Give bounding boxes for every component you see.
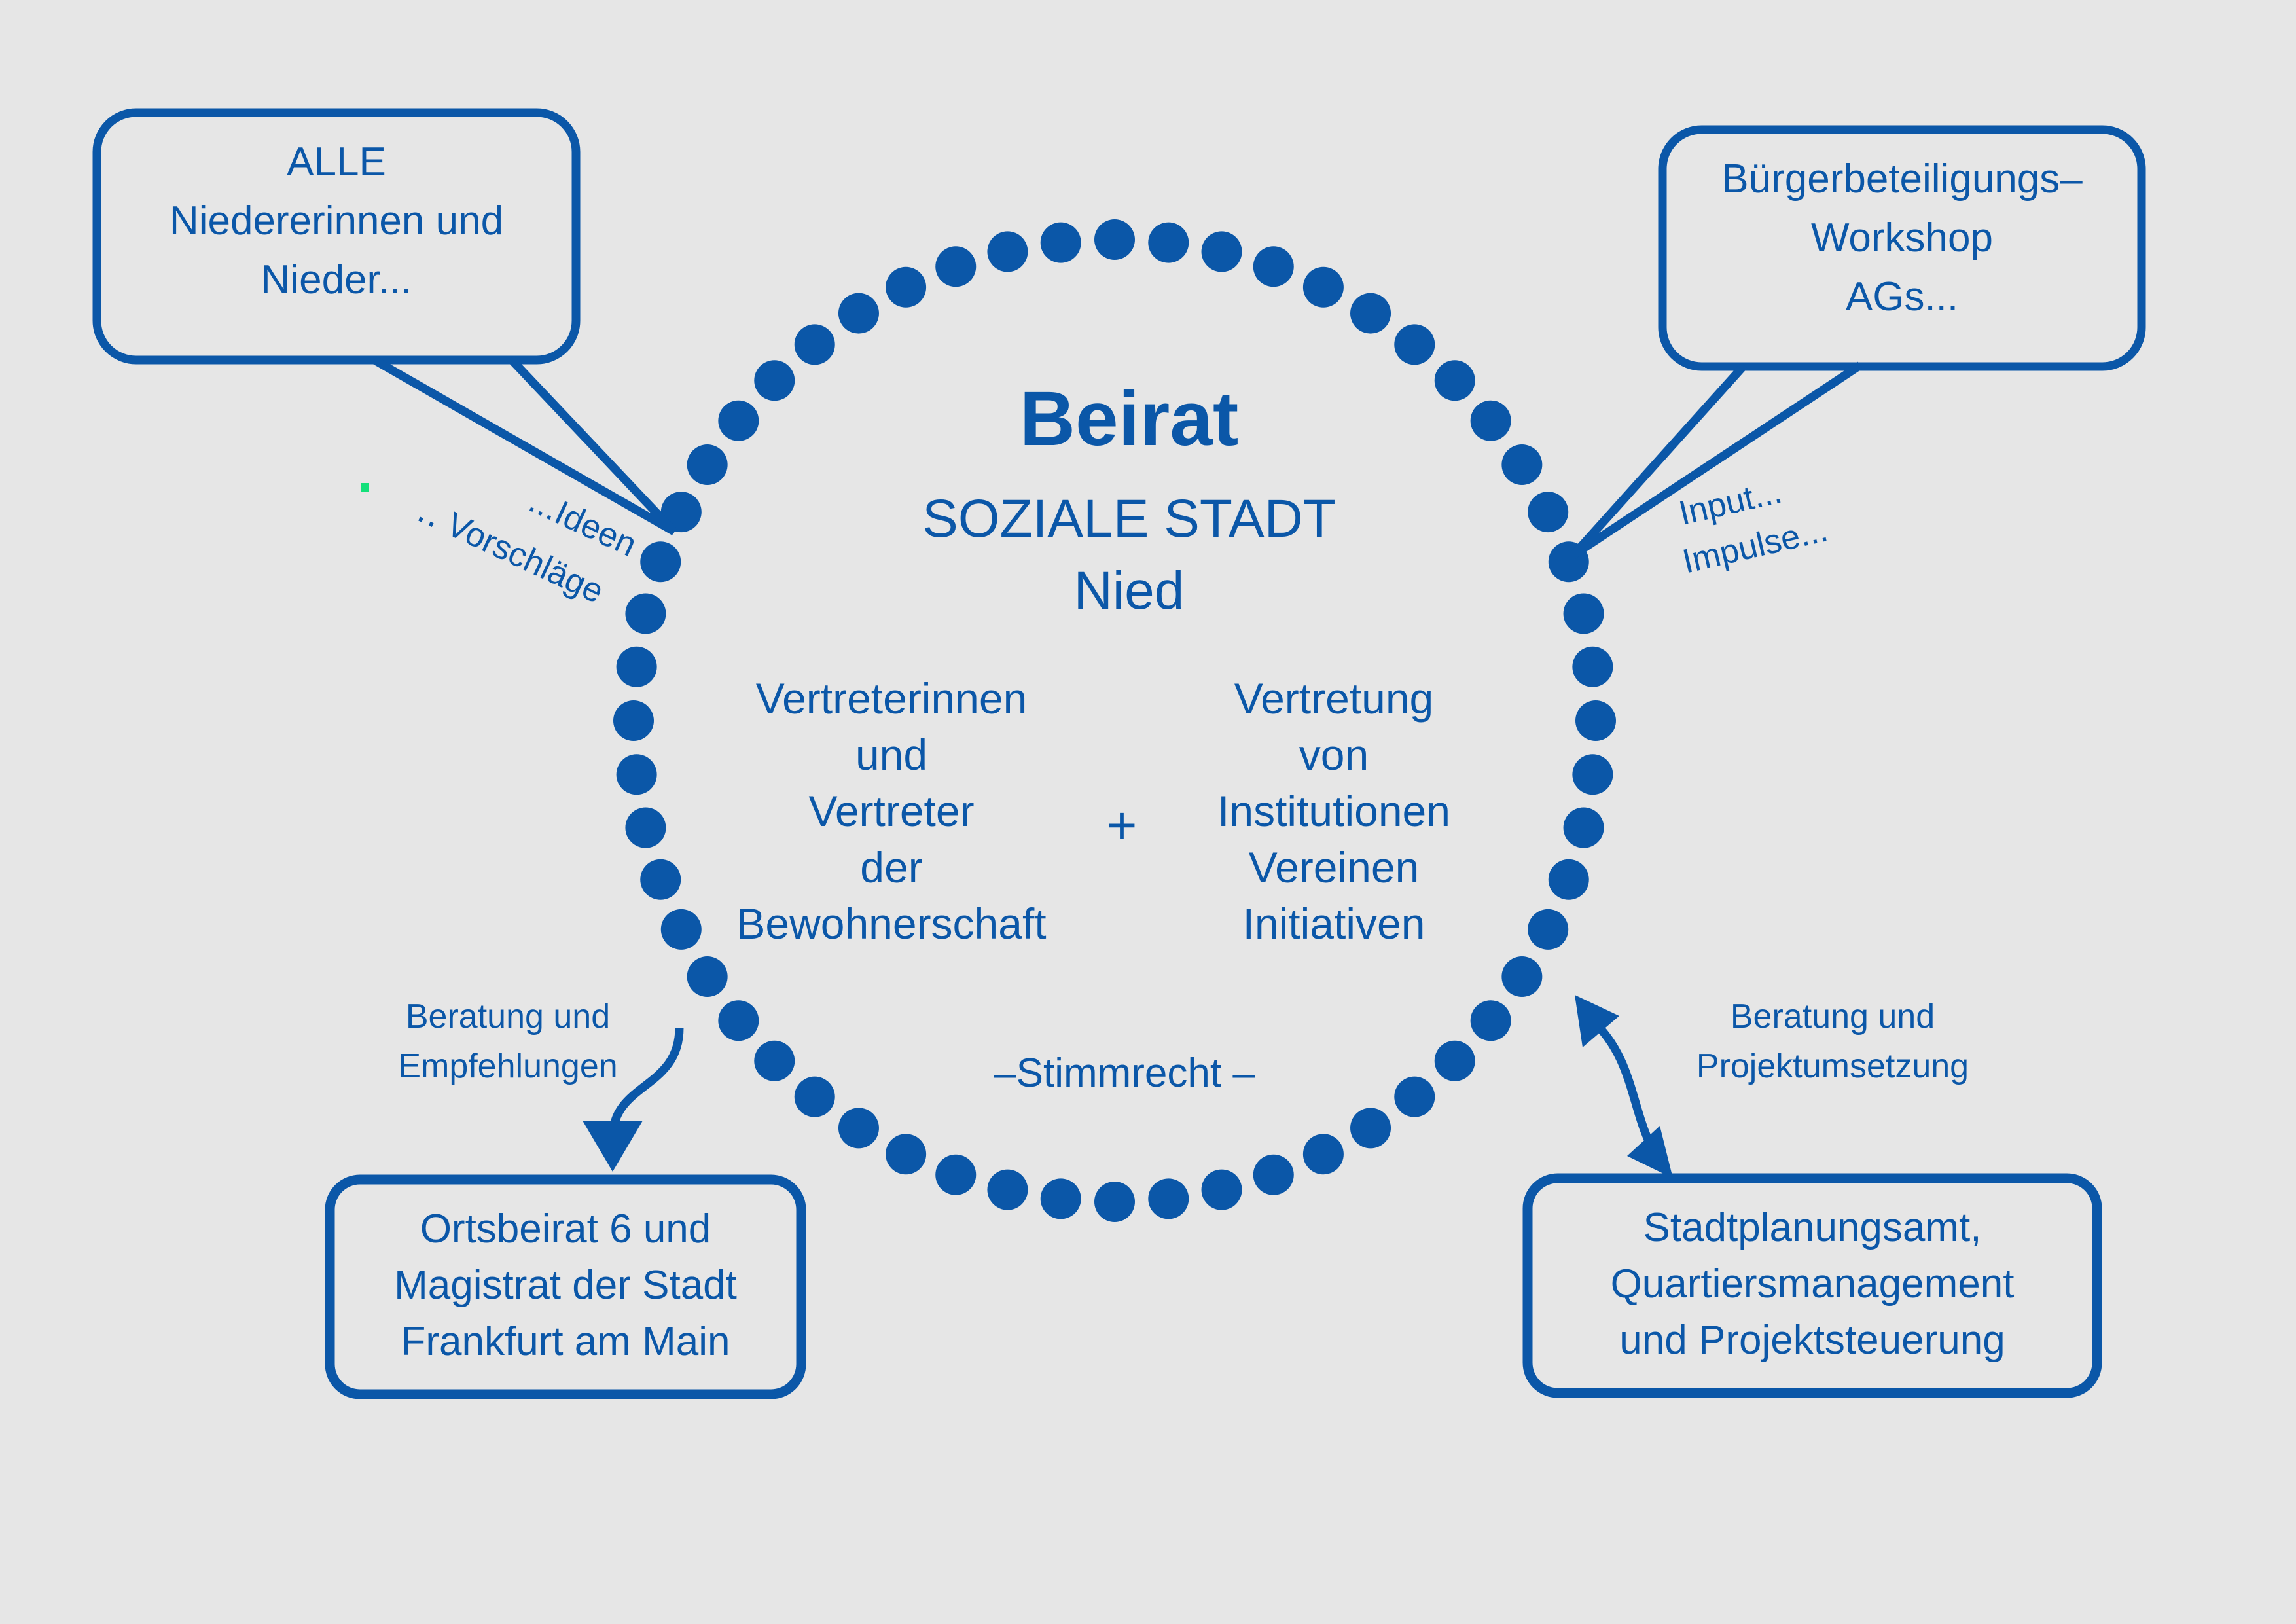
circle-dot — [987, 231, 1028, 272]
circle-dot — [795, 1077, 835, 1117]
circle-dot — [987, 1170, 1028, 1210]
left-column-line-5: Bewohnerschaft — [736, 899, 1046, 948]
circle-dot — [1148, 223, 1189, 263]
circle-dot — [1501, 444, 1542, 485]
circle-dot — [1564, 593, 1604, 634]
stimmrecht-footnote: –Stimmrecht – — [994, 1051, 1255, 1096]
circle-dot — [1350, 293, 1391, 334]
plus-operator: + — [1107, 796, 1138, 854]
circle-dot — [1253, 246, 1294, 287]
right-column-line-2: von — [1299, 731, 1369, 779]
annotation-bottom-right-line-2: Projektumsetzung — [1696, 1047, 1969, 1085]
right-column-line-5: Initiativen — [1243, 899, 1426, 948]
circle-dot — [1471, 1000, 1511, 1041]
circle-dot — [617, 647, 657, 687]
circle-dot — [1303, 1134, 1344, 1174]
circle-dot — [718, 1000, 759, 1041]
page-title: Beirat — [1020, 376, 1238, 462]
circle-dot — [886, 267, 926, 308]
circle-dot — [1094, 1182, 1135, 1222]
bottom-left-box-line-2: Magistrat der Stadt — [394, 1263, 737, 1308]
center-subtitle-line-2: Nied — [1074, 561, 1185, 621]
circle-dot — [838, 293, 879, 334]
right-column-line-4: Vereinen — [1249, 843, 1420, 892]
speech-bubble-top-right-line-2: Workshop — [1811, 215, 1993, 261]
circle-dot — [1041, 1178, 1081, 1219]
circle-dot — [1094, 219, 1135, 260]
circle-dot — [613, 700, 654, 741]
speech-bubble-top-left[interactable]: ALLE Niedererinnen und Nieder... — [97, 113, 674, 532]
circle-dot — [886, 1134, 926, 1174]
diagram-canvas: ALLE Niedererinnen und Nieder... Bürgerb… — [0, 0, 2296, 1624]
center-left-column: Vertreterinnen und Vertreter der Bewohne… — [736, 674, 1046, 948]
speech-bubble-top-left-line-3: Nieder... — [261, 257, 412, 302]
left-column-line-4: der — [860, 843, 922, 892]
circle-dot — [1350, 1108, 1391, 1148]
speech-bubble-top-left-line-2: Niedererinnen und — [170, 198, 503, 244]
circle-dot — [838, 1108, 879, 1148]
circle-dot — [935, 1155, 976, 1195]
circle-dot — [1202, 231, 1242, 272]
bottom-right-box-line-3: und Projektsteuerung — [1619, 1318, 2005, 1363]
circle-dot — [935, 246, 976, 287]
left-column-line-1: Vertreterinnen — [756, 674, 1028, 723]
left-column-line-3: Vertreter — [808, 787, 974, 835]
bottom-right-box[interactable]: Stadtplanungsamt, Quartiersmanagement un… — [1528, 1178, 2097, 1393]
speech-bubble-top-right-line-3: AGs... — [1846, 274, 1958, 319]
circle-dot — [754, 1041, 795, 1081]
annotation-bottom-left-line-1: Beratung und — [406, 998, 610, 1036]
circle-dot — [625, 808, 666, 848]
left-column-line-2: und — [855, 731, 927, 779]
circle-dot — [1575, 700, 1616, 741]
circle-dot — [1572, 647, 1613, 687]
circle-dot — [687, 956, 728, 997]
circle-dot — [1528, 909, 1568, 950]
circle-dot — [687, 444, 728, 485]
double-arrow-bottom-right — [1575, 995, 1673, 1178]
bottom-left-box[interactable]: Ortsbeirat 6 und Magistrat der Stadt Fra… — [330, 1180, 801, 1394]
speech-bubble-top-right-line-1: Bürgerbeteiligungs– — [1721, 156, 2083, 202]
circle-dot — [661, 909, 702, 950]
center-right-column: Vertretung von Institutionen Vereinen In… — [1217, 674, 1450, 948]
circle-dot — [1303, 267, 1344, 308]
annotation-bottom-right-line-1: Beratung und — [1731, 998, 1935, 1036]
circle-dot — [1572, 754, 1613, 795]
circle-dot — [1564, 808, 1604, 848]
right-column-line-3: Institutionen — [1217, 787, 1450, 835]
center-subtitle-line-1: SOZIALE STADT — [922, 489, 1336, 549]
circle-dot — [1549, 859, 1589, 900]
circle-dot — [1394, 324, 1435, 365]
circle-dot — [754, 360, 795, 401]
circle-dot — [640, 541, 681, 582]
annotation-bottom-right-flow: Beratung und Projektumsetzung — [1696, 998, 1969, 1085]
circle-dot — [1202, 1170, 1242, 1210]
circle-dot — [617, 754, 657, 795]
bottom-left-box-line-1: Ortsbeirat 6 und — [420, 1206, 711, 1252]
bottom-left-box-line-3: Frankfurt am Main — [401, 1319, 730, 1364]
circle-dot — [625, 593, 666, 634]
circle-dot — [640, 859, 681, 900]
green-pixel-artifact — [361, 483, 369, 492]
annotation-bottom-left-line-2: Empfehlungen — [398, 1047, 617, 1085]
circle-dot — [1528, 492, 1568, 532]
circle-dot — [1435, 360, 1475, 401]
circle-dot — [1501, 956, 1542, 997]
bottom-right-box-line-1: Stadtplanungsamt, — [1643, 1205, 1981, 1250]
bottom-right-box-line-2: Quartiersmanagement — [1611, 1261, 2015, 1307]
circle-dot — [795, 324, 835, 365]
annotation-bottom-left-flow: Beratung und Empfehlungen — [398, 998, 617, 1085]
annotation-top-right-flow: Input... Impulse... — [1668, 464, 1831, 581]
speech-bubble-top-left-tail — [374, 359, 674, 532]
circle-dot — [1148, 1178, 1189, 1219]
circle-dot — [1394, 1077, 1435, 1117]
circle-dot — [1435, 1041, 1475, 1081]
speech-bubble-top-left-line-1: ALLE — [287, 139, 386, 185]
center-title-group: Beirat SOZIALE STADT Nied — [922, 376, 1336, 621]
right-column-line-1: Vertretung — [1234, 674, 1434, 723]
circle-dot — [1471, 401, 1511, 441]
circle-dot — [718, 401, 759, 441]
circle-dot — [1041, 223, 1081, 263]
speech-bubble-top-right[interactable]: Bürgerbeteiligungs– Workshop AGs... — [1573, 130, 2142, 555]
circle-dot — [1253, 1155, 1294, 1195]
